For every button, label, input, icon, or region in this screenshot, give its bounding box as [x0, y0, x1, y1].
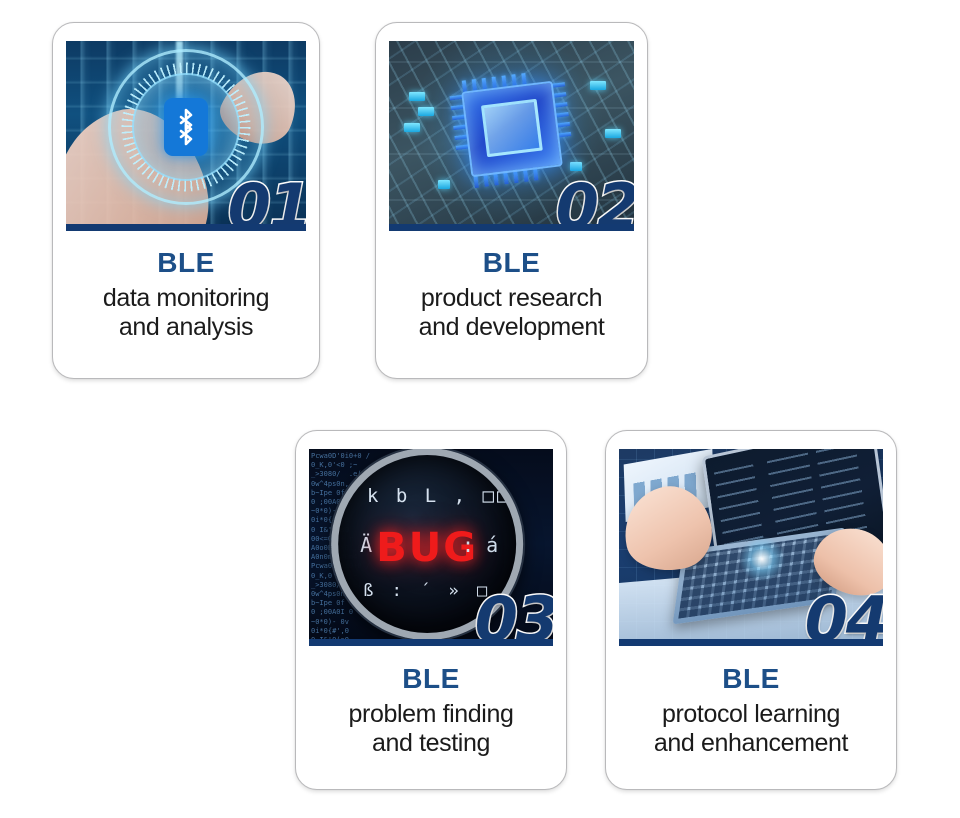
magnifier-bug-image: Pcwa0D'0i0+0 / 0_K,0'<0 ;~ _>3080/ .e( 0…	[309, 449, 553, 639]
card-02-caption: BLE product research and development	[376, 245, 647, 342]
card-title: BLE	[61, 245, 311, 280]
bluetooth-icon	[164, 98, 208, 156]
lens-bottom-text: ß : ´ » □	[338, 581, 516, 601]
cards-canvas: 01 BLE data monitoring and analysis	[0, 0, 960, 818]
microchip-pcb-image	[389, 41, 634, 224]
laptop-coding-image	[619, 449, 883, 639]
card-title: BLE	[614, 661, 888, 696]
feature-card-03[interactable]: Pcwa0D'0i0+0 / 0_K,0'<0 ;~ _>3080/ .e( 0…	[295, 430, 567, 790]
card-04-caption: BLE protocol learning and enhancement	[606, 661, 896, 758]
bluetooth-hud-image	[66, 41, 306, 224]
card-divider-rule	[309, 639, 553, 646]
card-04-media: 04	[619, 449, 883, 639]
card-description: data monitoring and analysis	[61, 284, 311, 342]
lens-right-glyph: : á	[462, 533, 498, 557]
card-01-caption: BLE data monitoring and analysis	[53, 245, 319, 342]
feature-card-04[interactable]: 04 BLE protocol learning and enhancement	[605, 430, 897, 790]
feature-card-02[interactable]: 02 BLE product research and development	[375, 22, 648, 379]
card-divider-rule	[389, 224, 634, 231]
microchip-icon	[389, 41, 634, 224]
card-01-media: 01	[66, 41, 306, 224]
laptop-icon	[619, 449, 883, 639]
card-divider-rule	[619, 639, 883, 646]
card-02-media: 02	[389, 41, 634, 224]
card-03-caption: BLE problem finding and testing	[296, 661, 566, 758]
feature-card-01[interactable]: 01 BLE data monitoring and analysis	[52, 22, 320, 379]
card-divider-rule	[66, 224, 306, 231]
magnifier-icon: c k b L , □□□ Ä BUG : á ß : ´ » □	[331, 449, 523, 639]
card-description: problem finding and testing	[304, 700, 558, 758]
card-title: BLE	[304, 661, 558, 696]
card-03-media: Pcwa0D'0i0+0 / 0_K,0'<0 ;~ _>3080/ .e( 0…	[309, 449, 553, 639]
card-description: protocol learning and enhancement	[614, 700, 888, 758]
card-description: product research and development	[384, 284, 639, 342]
card-title: BLE	[384, 245, 639, 280]
lens-top-text: c k b L , □□□	[338, 485, 516, 507]
